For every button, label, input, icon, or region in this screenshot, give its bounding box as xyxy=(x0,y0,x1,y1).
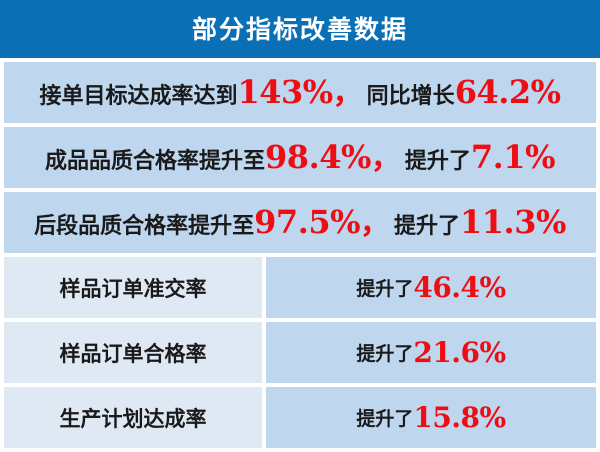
metric-separator: ， xyxy=(371,144,405,174)
metrics-improvement-board: 部分指标改善数据 接单目标达成率达到 143% ， 同比增长 64.2% 成品品… xyxy=(0,0,600,452)
metric-sentence: 成品品质合格率提升至 98.4% ， 提升了 7.1% xyxy=(45,141,555,174)
metric-value-prefix: 提升了 xyxy=(356,274,413,301)
metric-middle-text: 同比增长 xyxy=(367,86,455,108)
metric-middle-text: 提升了 xyxy=(394,216,460,238)
metric-prefix-text: 接单目标达成率达到 xyxy=(39,86,237,108)
metric-middle-text: 提升了 xyxy=(405,151,471,173)
metric-separator: ， xyxy=(360,209,394,239)
metrics-rows: 接单目标达成率达到 143% ， 同比增长 64.2% 成品品质合格率提升至 9… xyxy=(0,62,600,452)
metric-row-split: 生产计划达成率 提升了 15.8% xyxy=(4,387,596,448)
metric-sentence: 后段品质合格率提升至 97.5% ， 提升了 11.3% xyxy=(34,206,566,239)
metric-value-secondary: 11.3% xyxy=(460,206,566,238)
metric-row-split: 样品订单准交率 提升了 46.4% xyxy=(4,257,596,318)
metric-row-full: 成品品质合格率提升至 98.4% ， 提升了 7.1% xyxy=(4,127,596,188)
metric-value-primary: 98.4% xyxy=(265,141,371,173)
metric-row-split: 样品订单合格率 提升了 21.6% xyxy=(4,322,596,383)
metric-value-cell: 提升了 46.4% xyxy=(266,257,596,318)
metric-row-full: 后段品质合格率提升至 97.5% ， 提升了 11.3% xyxy=(4,192,596,253)
metric-value-number: 15.8% xyxy=(413,401,505,434)
page-title: 部分指标改善数据 xyxy=(192,17,408,42)
metric-label-text: 样品订单合格率 xyxy=(60,338,207,368)
metric-label-cell: 生产计划达成率 xyxy=(4,387,262,448)
metric-value-prefix: 提升了 xyxy=(356,339,413,366)
metric-sentence: 接单目标达成率达到 143% ， 同比增长 64.2% xyxy=(39,76,560,109)
metric-value-prefix: 提升了 xyxy=(356,404,413,431)
metric-value-primary: 143% xyxy=(237,76,332,108)
metric-label-text: 样品订单准交率 xyxy=(60,273,207,303)
metric-value-cell: 提升了 21.6% xyxy=(266,322,596,383)
metric-prefix-text: 后段品质合格率提升至 xyxy=(34,216,254,238)
metric-value-primary: 97.5% xyxy=(254,206,360,238)
metric-value-number: 46.4% xyxy=(413,271,505,304)
metric-value-number: 21.6% xyxy=(413,336,505,369)
metric-label-cell: 样品订单合格率 xyxy=(4,322,262,383)
metric-value-secondary: 7.1% xyxy=(471,141,555,173)
metric-row-full: 接单目标达成率达到 143% ， 同比增长 64.2% xyxy=(4,62,596,123)
metric-label-cell: 样品订单准交率 xyxy=(4,257,262,318)
metric-value-cell: 提升了 15.8% xyxy=(266,387,596,448)
metric-separator: ， xyxy=(333,79,367,109)
metric-prefix-text: 成品品质合格率提升至 xyxy=(45,151,265,173)
metric-value-secondary: 64.2% xyxy=(455,76,561,108)
board-header: 部分指标改善数据 xyxy=(0,0,600,58)
metric-label-text: 生产计划达成率 xyxy=(60,403,207,433)
